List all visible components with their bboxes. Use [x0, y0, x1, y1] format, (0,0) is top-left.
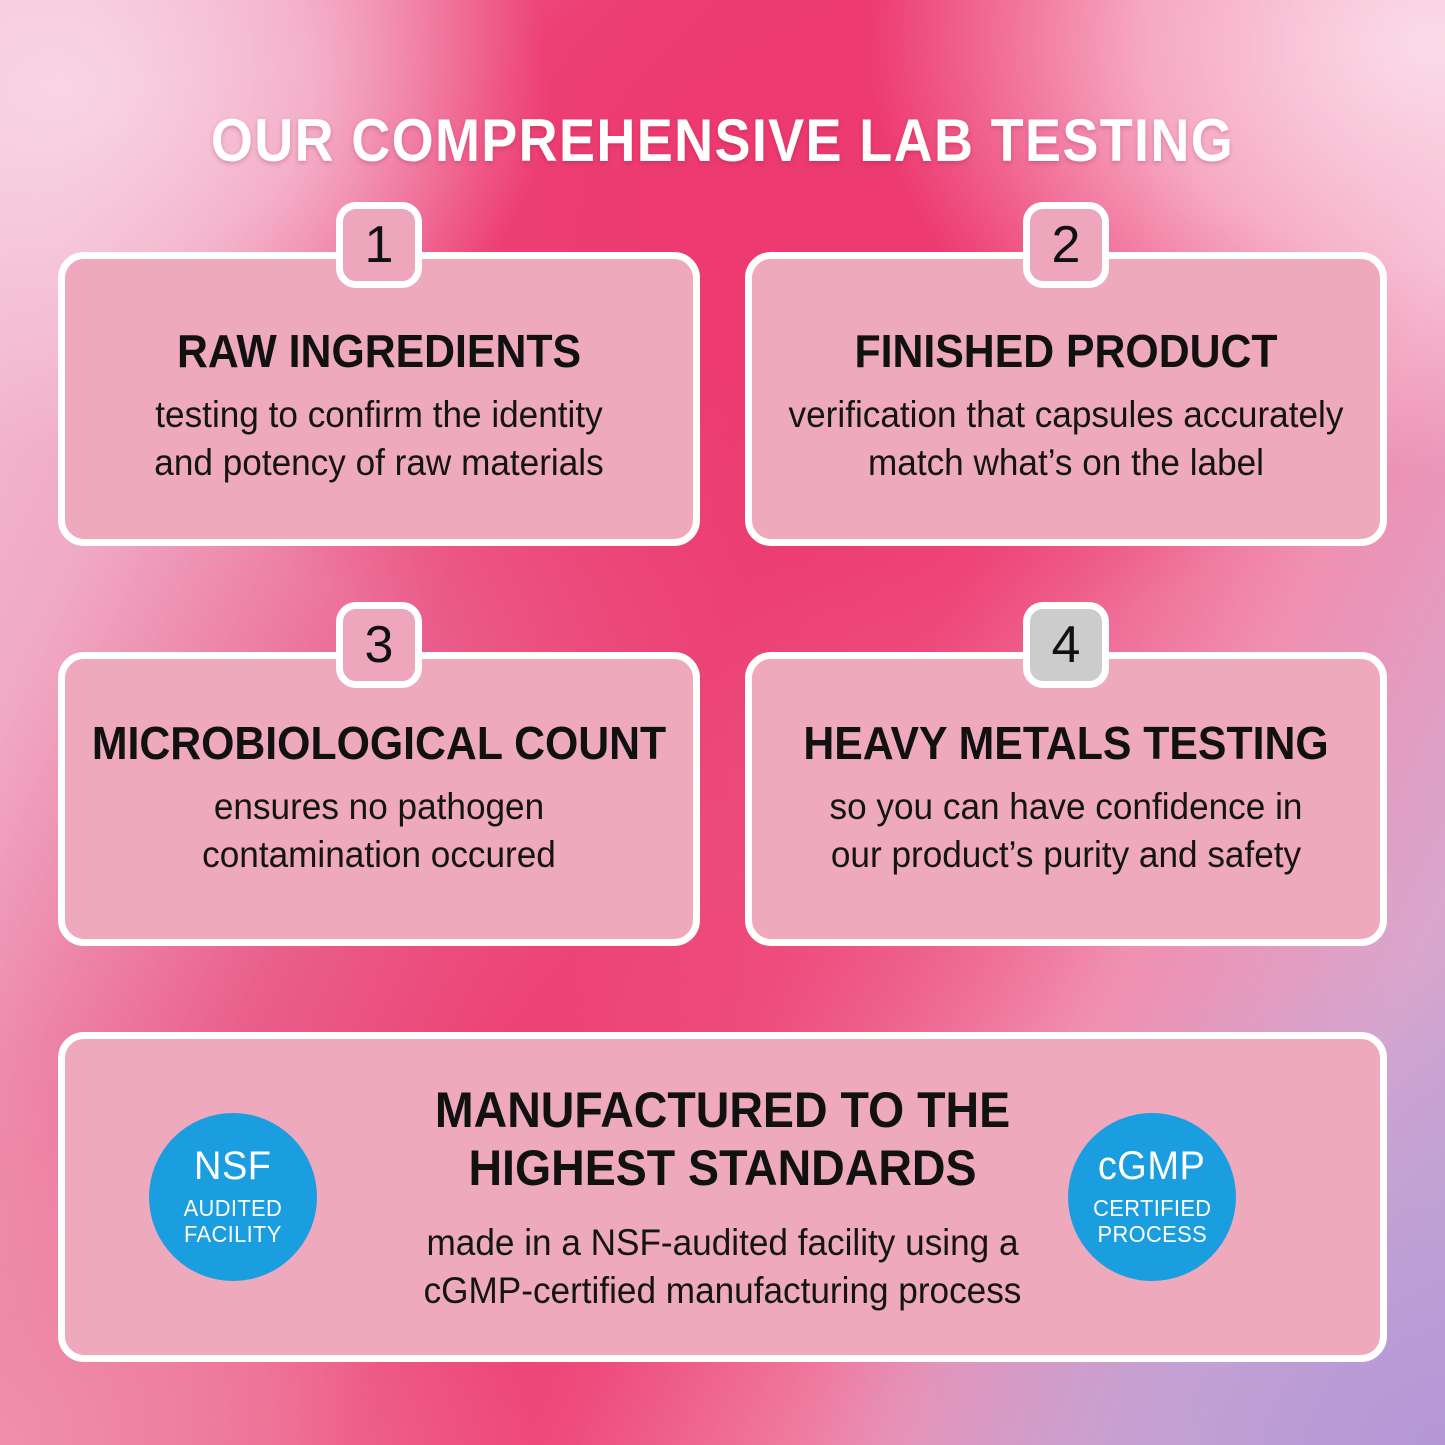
panel-heading: MANUFACTURED TO THE HIGHEST STANDARDS — [371, 1081, 1073, 1197]
cgmp-seal-subtitle: CERTIFIED PROCESS — [1093, 1186, 1211, 1248]
step-card-3-body: ensures no pathogen contamination occure… — [81, 767, 678, 879]
lab-testing-infographic: OUR COMPREHENSIVE LAB TESTING 1 RAW INGR… — [0, 0, 1445, 1445]
step-badge-1: 1 — [336, 202, 422, 288]
step-card-3: MICROBIOLOGICAL COUNT ensures no pathoge… — [58, 652, 700, 946]
panel-body: made in a NSF-audited facility using a c… — [364, 1197, 1081, 1315]
cgmp-seal-title: cGMP — [1098, 1146, 1205, 1186]
page-title: OUR COMPREHENSIVE LAB TESTING — [72, 106, 1373, 175]
step-badge-4: 4 — [1023, 602, 1109, 688]
manufacturing-standards-panel: NSF AUDITED FACILITY MANUFACTURED TO THE… — [58, 1032, 1387, 1362]
step-card-4: HEAVY METALS TESTING so you can have con… — [745, 652, 1387, 946]
step-badge-2: 2 — [1023, 202, 1109, 288]
step-card-1: RAW INGREDIENTS testing to confirm the i… — [58, 252, 700, 546]
nsf-audited-facility-seal-icon: NSF AUDITED FACILITY — [149, 1113, 317, 1281]
step-card-1-body: testing to confirm the identity and pote… — [81, 375, 678, 487]
cgmp-certified-process-seal-icon: cGMP CERTIFIED PROCESS — [1068, 1113, 1236, 1281]
panel-inner: NSF AUDITED FACILITY MANUFACTURED TO THE… — [65, 1039, 1380, 1355]
step-card-2: FINISHED PRODUCT verification that capsu… — [745, 252, 1387, 546]
nsf-seal-subtitle: AUDITED FACILITY — [184, 1186, 283, 1248]
step-card-2-body: verification that capsules accurately ma… — [768, 375, 1365, 487]
panel-text-block: MANUFACTURED TO THE HIGHEST STANDARDS ma… — [345, 1081, 1100, 1315]
nsf-seal-title: NSF — [194, 1146, 271, 1186]
step-badge-3: 3 — [336, 602, 422, 688]
step-card-4-body: so you can have confidence in our produc… — [768, 767, 1365, 879]
